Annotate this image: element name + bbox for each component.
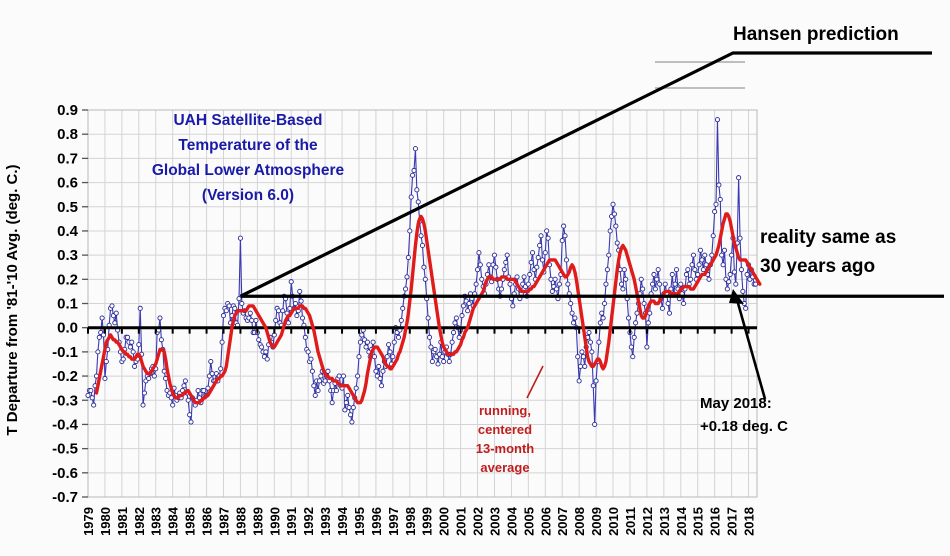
hansen-prediction-label: Hansen prediction: [733, 24, 899, 45]
x-tick-label: 1999: [420, 507, 435, 536]
y-tick-label: 0.1: [57, 296, 78, 313]
x-tick-label: 1993: [318, 507, 333, 536]
x-tick-label: 2012: [640, 507, 655, 536]
x-tick-label: 2000: [437, 507, 452, 536]
x-tick-label: 1980: [98, 507, 113, 536]
chart-title-line-1: UAH Satellite-Based: [173, 112, 322, 129]
chart-root: 0.90.80.70.60.50.40.30.20.10.0-0.1-0.2-0…: [0, 0, 950, 556]
x-tick-label: 1984: [166, 506, 181, 536]
y-tick-label: -0.1: [52, 344, 78, 361]
x-tick-label: 1992: [301, 507, 316, 536]
x-tick-label: 2004: [504, 506, 519, 536]
y-tick-label: 0.6: [57, 175, 78, 192]
x-tick-label: 1990: [267, 507, 282, 536]
x-tick-label: 1987: [216, 507, 231, 536]
x-tick-label: 1998: [403, 507, 418, 536]
x-tick-label: 2015: [691, 507, 706, 536]
x-tick-label: 2013: [657, 507, 672, 536]
y-tick-label: -0.5: [52, 441, 78, 458]
x-tick-label: 2002: [471, 507, 486, 536]
running-average-label-line-3: 13-month: [476, 441, 535, 456]
x-tick-label: 2006: [538, 507, 553, 536]
x-tick-label: 2007: [555, 507, 570, 536]
y-tick-label: 0.7: [57, 150, 78, 167]
x-tick-label: 1981: [115, 507, 130, 536]
x-tick-label: 2001: [454, 507, 469, 536]
x-tick-label: 1995: [352, 507, 367, 536]
chart-title-line-3: Global Lower Atmosphere: [152, 162, 345, 179]
x-tick-label: 1991: [284, 507, 299, 536]
y-tick-label: -0.6: [52, 465, 78, 482]
x-tick-label: 1994: [335, 506, 350, 536]
x-tick-label: 2003: [487, 507, 502, 536]
running-average-label-line-2: centered: [478, 422, 532, 437]
y-tick-label: 0.2: [57, 271, 78, 288]
y-tick-label: 0.3: [57, 247, 78, 264]
y-tick-label: 0.9: [57, 102, 78, 119]
y-tick-label: 0.0: [57, 320, 78, 337]
x-tick-label: 1983: [149, 507, 164, 536]
x-tick-label: 2014: [674, 506, 689, 536]
x-tick-label: 2009: [589, 507, 604, 536]
x-tick-label: 1997: [386, 507, 401, 536]
x-tick-label: 2018: [742, 507, 757, 536]
x-tick-label: 1985: [183, 507, 198, 536]
x-tick-label: 2005: [521, 507, 536, 536]
may-2018-label-line-1: May 2018:: [700, 395, 772, 412]
x-tick-label: 1989: [250, 507, 265, 536]
x-tick-label: 1979: [81, 507, 96, 536]
x-tick-label: 1988: [233, 507, 248, 536]
reality-note-line-1: reality same as: [760, 227, 896, 248]
y-tick-label: -0.3: [52, 392, 78, 409]
chart-title-line-4: (Version 6.0): [202, 187, 294, 204]
y-tick-label: -0.2: [52, 368, 78, 385]
y-tick-label: 0.8: [57, 126, 78, 143]
chart-title-line-2: Temperature of the: [178, 137, 318, 154]
may-2018-label-line-2: +0.18 deg. C: [700, 418, 788, 435]
x-tick-label: 2017: [725, 507, 740, 536]
x-tick-label: 2010: [606, 507, 621, 536]
x-tick-label: 1986: [200, 507, 215, 536]
x-tick-label: 1982: [132, 507, 147, 536]
y-tick-label: -0.7: [52, 489, 78, 506]
uah-temperature-chart: 0.90.80.70.60.50.40.30.20.10.0-0.1-0.2-0…: [0, 0, 950, 556]
x-tick-label: 2011: [623, 507, 638, 535]
y-tick-label: 0.4: [57, 223, 79, 240]
y-tick-label: 0.5: [57, 199, 78, 216]
x-tick-label: 2008: [572, 507, 587, 536]
y-axis-title: T Departure from '81-'10 Avg. (deg. C.): [4, 164, 21, 435]
running-average-label-line-4: average: [480, 460, 529, 475]
y-tick-label: -0.4: [52, 416, 79, 433]
reality-note-line-2: 30 years ago: [760, 256, 875, 277]
x-tick-label: 2016: [708, 507, 723, 536]
running-average-label-line-1: running,: [479, 403, 531, 418]
x-tick-label: 1996: [369, 507, 384, 536]
